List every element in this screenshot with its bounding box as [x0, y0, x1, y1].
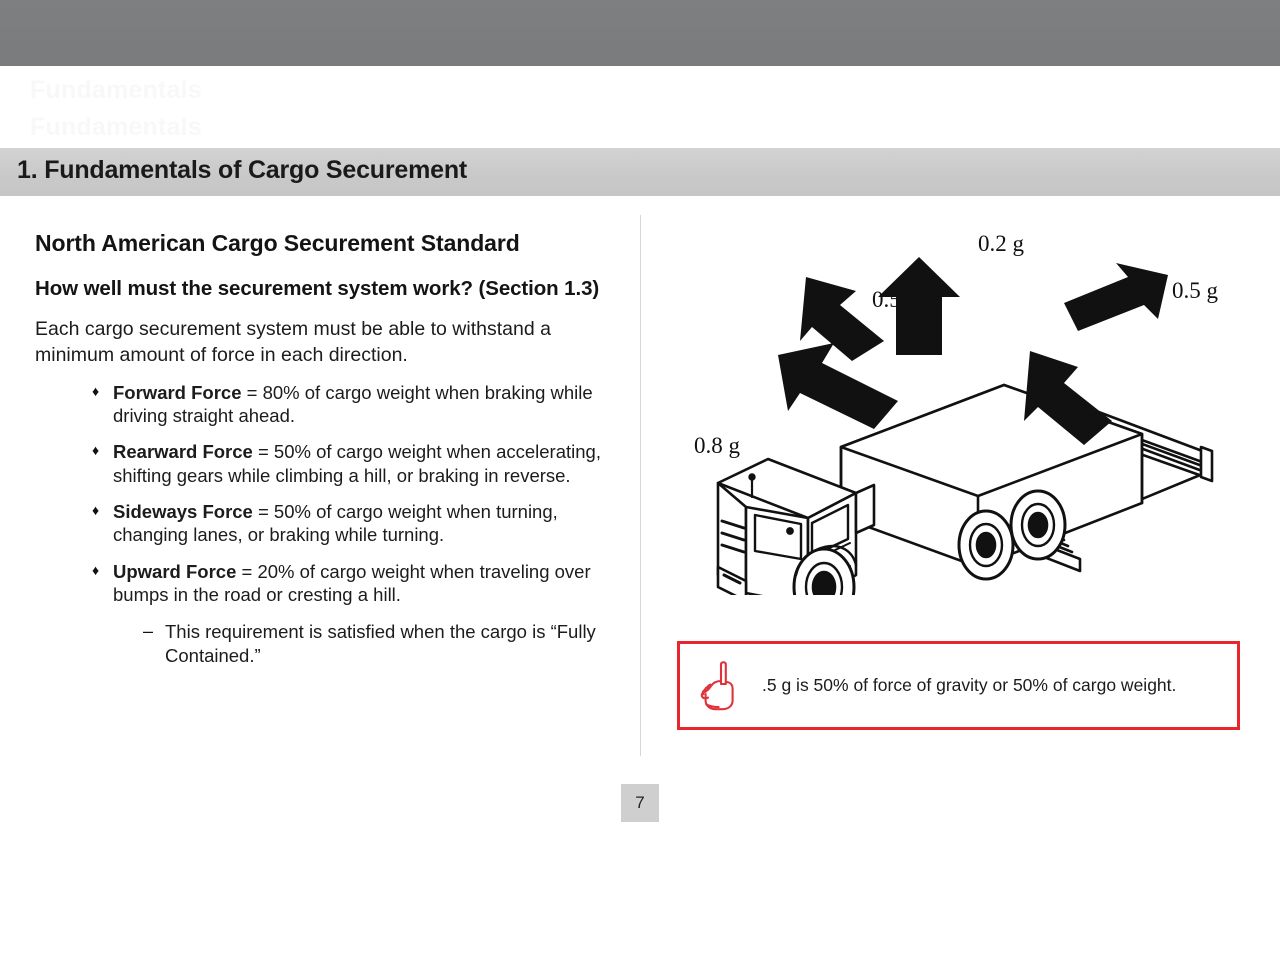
- page-number: 7: [635, 793, 644, 813]
- sub-note-text: This requirement is satisfied when the c…: [165, 621, 596, 665]
- section-subheading: How well must the securement system work…: [35, 275, 615, 303]
- ghost-watermark-strip: Fundamentals Fundamentals: [0, 66, 1280, 148]
- label-forward-force: 0.8 g: [694, 433, 740, 459]
- slide-canvas: Fundamentals Fundamentals 1. Fundamental…: [0, 0, 1280, 960]
- list-item: – This requirement is satisfied when the…: [143, 620, 615, 667]
- force-term: Rearward Force: [113, 441, 253, 462]
- diamond-bullet-icon: ♦: [92, 500, 99, 522]
- force-term: Sideways Force: [113, 501, 253, 522]
- diamond-bullet-icon: ♦: [92, 381, 99, 403]
- page-number-chip: 7: [621, 784, 659, 822]
- section-header-bar: 1. Fundamentals of Cargo Securement: [0, 148, 1280, 196]
- left-text-column: North American Cargo Securement Standard…: [35, 230, 615, 680]
- page-title: 1. Fundamentals of Cargo Securement: [17, 156, 467, 185]
- force-requirements-list: ♦ Forward Force = 80% of cargo weight wh…: [35, 381, 615, 667]
- truck-illustration-svg: [660, 215, 1260, 595]
- arrow-up-right: [1064, 263, 1168, 331]
- truck-force-diagram: 0.2 g 0.5 g 0.5 g 0.8 g: [660, 215, 1260, 595]
- intro-paragraph: Each cargo securement system must be abl…: [35, 317, 615, 368]
- label-upward-force: 0.2 g: [978, 231, 1024, 257]
- diamond-bullet-icon: ♦: [92, 560, 99, 582]
- dash-bullet-icon: –: [143, 620, 153, 643]
- list-item: ♦ Forward Force = 80% of cargo weight wh…: [92, 381, 615, 428]
- list-item: ♦ Upward Force = 20% of cargo weight whe…: [92, 560, 615, 668]
- pointing-hand-icon: [698, 660, 740, 712]
- column-divider: [640, 215, 641, 756]
- label-sideways-force-right: 0.5 g: [1172, 278, 1218, 304]
- force-term: Forward Force: [113, 382, 242, 403]
- callout-text: .5 g is 50% of force of gravity or 50% o…: [762, 674, 1176, 697]
- sub-note-list: – This requirement is satisfied when the…: [113, 620, 615, 667]
- top-letterbox-band: [0, 0, 1280, 66]
- list-item: ♦ Rearward Force = 50% of cargo weight w…: [92, 440, 615, 487]
- label-sideways-force-left: 0.5 g: [872, 287, 918, 313]
- diamond-bullet-icon: ♦: [92, 440, 99, 462]
- tip-callout-box: .5 g is 50% of force of gravity or 50% o…: [677, 641, 1240, 730]
- ghost-text-line-1: Fundamentals: [30, 76, 202, 105]
- arrow-down-left: [778, 343, 898, 429]
- list-item: ♦ Sideways Force = 50% of cargo weight w…: [92, 500, 615, 547]
- standard-heading: North American Cargo Securement Standard: [35, 230, 615, 257]
- ghost-text-line-2: Fundamentals: [30, 113, 202, 142]
- force-term: Upward Force: [113, 561, 236, 582]
